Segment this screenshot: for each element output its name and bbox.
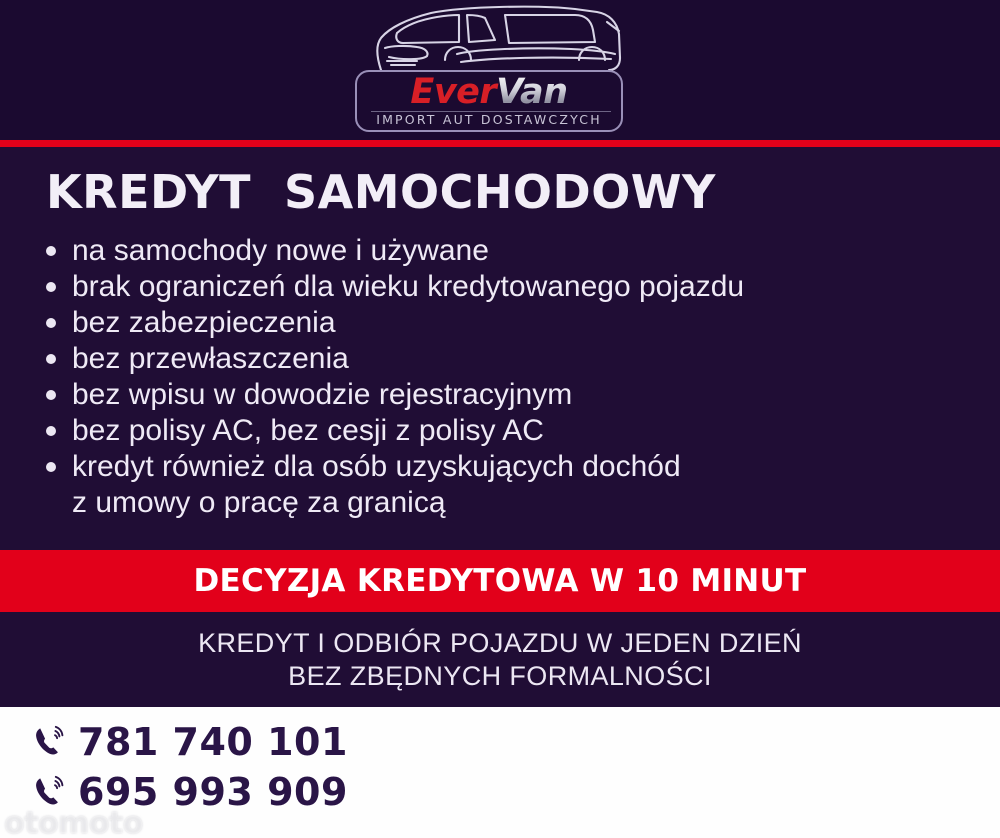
list-item-label: bez zabezpieczenia bbox=[72, 305, 336, 341]
bullet-dot-icon bbox=[46, 354, 56, 364]
header-red-divider bbox=[0, 140, 1000, 147]
advertisement-banner: EverVan IMPORT AUT DOSTAWCZYCH KREDYT SA… bbox=[0, 0, 1000, 838]
bullet-dot-icon bbox=[46, 318, 56, 328]
list-item: brak ograniczeń dla wieku kredytowanego … bbox=[46, 269, 946, 305]
list-item-label: bez przewłaszczenia bbox=[72, 341, 349, 377]
promo-banner-label: DECYZJA KREDYTOWA W 10 MINUT bbox=[194, 563, 807, 599]
tagline-line-1: KREDYT I ODBIÓR POJAZDU W JEDEN DZIEŃ bbox=[198, 627, 802, 660]
list-item-label: bez polisy AC, bez cesji z polisy AC bbox=[72, 413, 544, 449]
bullet-dot-icon bbox=[46, 246, 56, 256]
page-title: KREDYT SAMOCHODOWY bbox=[46, 165, 716, 219]
list-item-label: bez wpisu w dowodzie rejestracyjnym bbox=[72, 377, 572, 413]
logo-badge: EverVan IMPORT AUT DOSTAWCZYCH bbox=[355, 70, 623, 132]
van-outline-icon bbox=[361, 2, 639, 74]
brand-tagline: IMPORT AUT DOSTAWCZYCH bbox=[357, 112, 621, 127]
bullet-dot-icon bbox=[46, 282, 56, 292]
list-item: na samochody nowe i używane bbox=[46, 233, 946, 269]
phone-ringing-icon bbox=[32, 775, 66, 809]
list-item-label: brak ograniczeń dla wieku kredytowanego … bbox=[72, 269, 744, 305]
tagline-line-2: BEZ ZBĘDNYCH FORMALNOŚCI bbox=[288, 660, 712, 693]
list-item: bez przewłaszczenia bbox=[46, 341, 946, 377]
bullet-dot-icon bbox=[46, 462, 56, 472]
phone-ringing-icon bbox=[32, 725, 66, 759]
header-bar: EverVan IMPORT AUT DOSTAWCZYCH bbox=[0, 0, 1000, 140]
bullet-dot-icon bbox=[46, 426, 56, 436]
brand-ever: Ever bbox=[410, 72, 496, 112]
list-item-label: z umowy o pracę za granicą bbox=[72, 485, 446, 521]
list-item: bez wpisu w dowodzie rejestracyjnym bbox=[46, 377, 946, 413]
bullet-dot-icon bbox=[46, 390, 56, 400]
list-item-label: na samochody nowe i używane bbox=[72, 233, 489, 269]
contact-footer: 781 740 101 695 993 909 biuroev bbox=[0, 707, 1000, 838]
phone-list: 781 740 101 695 993 909 bbox=[32, 717, 348, 817]
tagline-section: KREDYT I ODBIÓR POJAZDU W JEDEN DZIEŃ BE… bbox=[0, 612, 1000, 707]
evervan-logo[interactable]: EverVan IMPORT AUT DOSTAWCZYCH bbox=[355, 2, 645, 138]
list-item: bez zabezpieczenia bbox=[46, 305, 946, 341]
phone-row[interactable]: 781 740 101 bbox=[32, 717, 348, 767]
promo-banner: DECYZJA KREDYTOWA W 10 MINUT bbox=[0, 550, 1000, 612]
list-item: kredyt również dla osób uzyskujących doc… bbox=[46, 449, 946, 485]
phone-number: 781 740 101 bbox=[78, 720, 348, 764]
list-item-continuation: z umowy o pracę za granicą bbox=[46, 485, 946, 521]
main-content: KREDYT SAMOCHODOWY na samochody nowe i u… bbox=[0, 147, 1000, 550]
list-item-label: kredyt również dla osób uzyskujących doc… bbox=[72, 449, 681, 485]
brand-van: Van bbox=[496, 72, 567, 112]
brand-wordmark: EverVan bbox=[357, 73, 621, 111]
feature-list: na samochody nowe i używane brak ogranic… bbox=[46, 233, 946, 521]
phone-number: 695 993 909 bbox=[78, 770, 348, 814]
phone-row[interactable]: 695 993 909 bbox=[32, 767, 348, 817]
list-item: bez polisy AC, bez cesji z polisy AC bbox=[46, 413, 946, 449]
bullet-dot-icon-placeholder bbox=[46, 498, 56, 508]
